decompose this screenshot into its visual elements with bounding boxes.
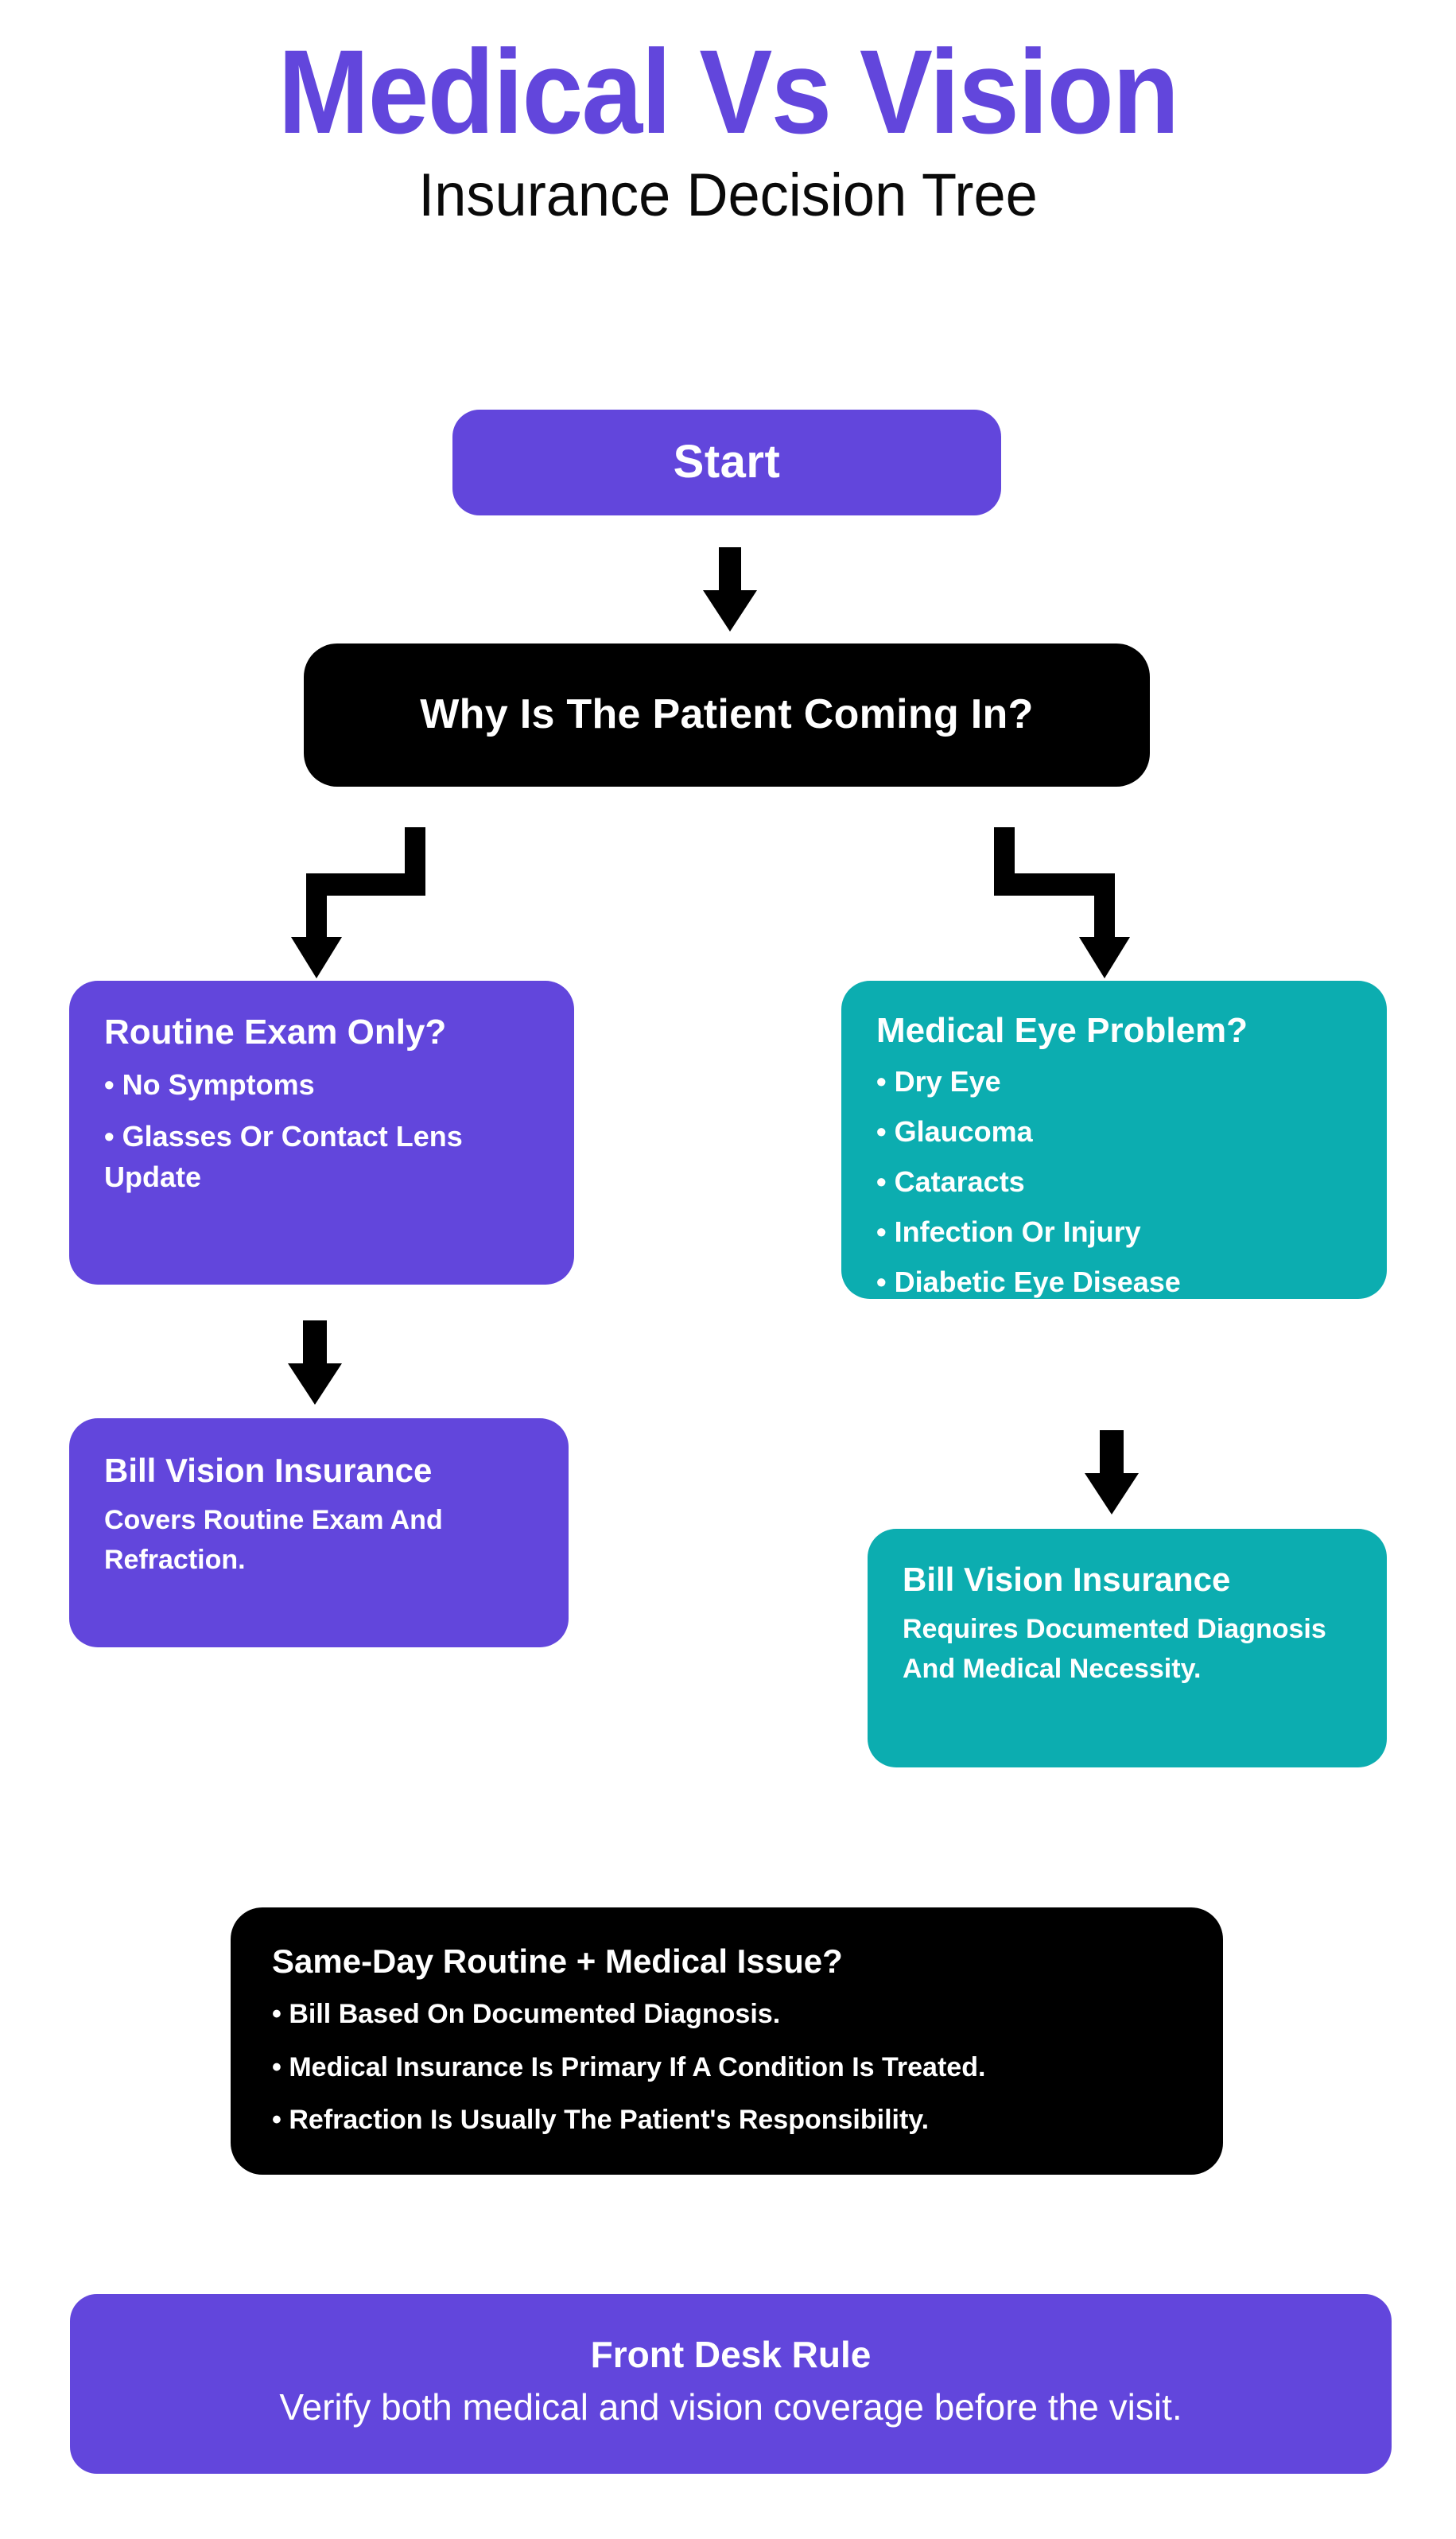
decision-label: Why Is The Patient Coming In?	[420, 691, 1033, 739]
list-item: Dry Eye	[876, 1061, 1352, 1102]
arrow-medical-to-bill-icon	[1081, 1430, 1142, 1514]
routine-exam-list: No Symptoms Glasses Or Contact Lens Upda…	[104, 1064, 539, 1197]
arrow-routine-to-bill-icon	[285, 1320, 345, 1405]
flow-node-bill-vision-medical[interactable]: Bill Vision Insurance Requires Documente…	[868, 1529, 1387, 1767]
list-item: Bill Based On Documented Diagnosis.	[272, 1995, 1182, 2033]
flow-node-decision[interactable]: Why Is The Patient Coming In?	[304, 643, 1150, 787]
front-desk-rule-banner[interactable]: Front Desk Rule Verify both medical and …	[70, 2294, 1392, 2474]
flow-node-bill-vision-routine[interactable]: Bill Vision Insurance Covers Routine Exa…	[69, 1418, 569, 1647]
page-title: Medical Vs Vision	[58, 32, 1398, 151]
flow-node-medical-eye-problem[interactable]: Medical Eye Problem? Dry Eye Glaucoma Ca…	[841, 981, 1387, 1299]
elbow-segment-vertical-down	[306, 894, 327, 940]
elbow-arrow-head	[1079, 937, 1130, 978]
flow-node-same-day-combined[interactable]: Same-Day Routine + Medical Issue? Bill B…	[231, 1907, 1223, 2175]
list-item: Diabetic Eye Disease	[876, 1262, 1352, 1302]
arrow-head	[288, 1363, 342, 1405]
list-item: Medical Insurance Is Primary If A Condit…	[272, 2048, 1182, 2086]
header: Medical Vs Vision Insurance Decision Tre…	[0, 32, 1456, 226]
infographic-page: Medical Vs Vision Insurance Decision Tre…	[0, 0, 1456, 2539]
arrow-head	[1085, 1473, 1139, 1514]
bill-vision-routine-detail: Covers Routine Exam And Refraction.	[104, 1501, 534, 1580]
arrow-shaft	[719, 547, 741, 592]
same-day-heading: Same-Day Routine + Medical Issue?	[272, 1942, 1182, 1981]
list-item: Infection Or Injury	[876, 1211, 1352, 1252]
same-day-list: Bill Based On Documented Diagnosis. Medi…	[272, 1995, 1182, 2139]
elbow-connector-left-icon	[282, 827, 425, 978]
elbow-connector-right-icon	[994, 827, 1137, 978]
elbow-segment-vertical-down	[1094, 894, 1115, 940]
flow-node-start[interactable]: Start	[452, 410, 1001, 515]
arrow-head	[703, 590, 757, 632]
flow-node-routine-exam[interactable]: Routine Exam Only? No Symptoms Glasses O…	[69, 981, 574, 1285]
routine-exam-heading: Routine Exam Only?	[104, 1013, 539, 1053]
list-item: Refraction Is Usually The Patient's Resp…	[272, 2101, 1182, 2139]
page-subtitle: Insurance Decision Tree	[37, 165, 1419, 226]
arrow-shaft	[1100, 1430, 1124, 1475]
start-label: Start	[674, 436, 781, 489]
medical-eye-problem-heading: Medical Eye Problem?	[876, 1011, 1352, 1052]
elbow-arrow-head	[291, 937, 342, 978]
list-item: Glaucoma	[876, 1111, 1352, 1152]
list-item: Cataracts	[876, 1161, 1352, 1202]
front-desk-rule-detail: Verify both medical and vision coverage …	[279, 2381, 1182, 2434]
arrow-shaft	[303, 1320, 327, 1365]
elbow-segment-horizontal	[306, 873, 425, 896]
bill-vision-medical-heading: Bill Vision Insurance	[903, 1561, 1352, 1599]
arrow-start-to-decision-icon	[700, 547, 760, 632]
list-item: Glasses Or Contact Lens Update	[104, 1116, 539, 1197]
bill-vision-routine-heading: Bill Vision Insurance	[104, 1452, 534, 1490]
elbow-segment-horizontal	[994, 873, 1115, 896]
medical-eye-problem-list: Dry Eye Glaucoma Cataracts Infection Or …	[876, 1061, 1352, 1303]
list-item: No Symptoms	[104, 1064, 539, 1105]
bill-vision-medical-detail: Requires Documented Diagnosis And Medica…	[903, 1610, 1352, 1689]
front-desk-rule-heading: Front Desk Rule	[591, 2334, 872, 2376]
